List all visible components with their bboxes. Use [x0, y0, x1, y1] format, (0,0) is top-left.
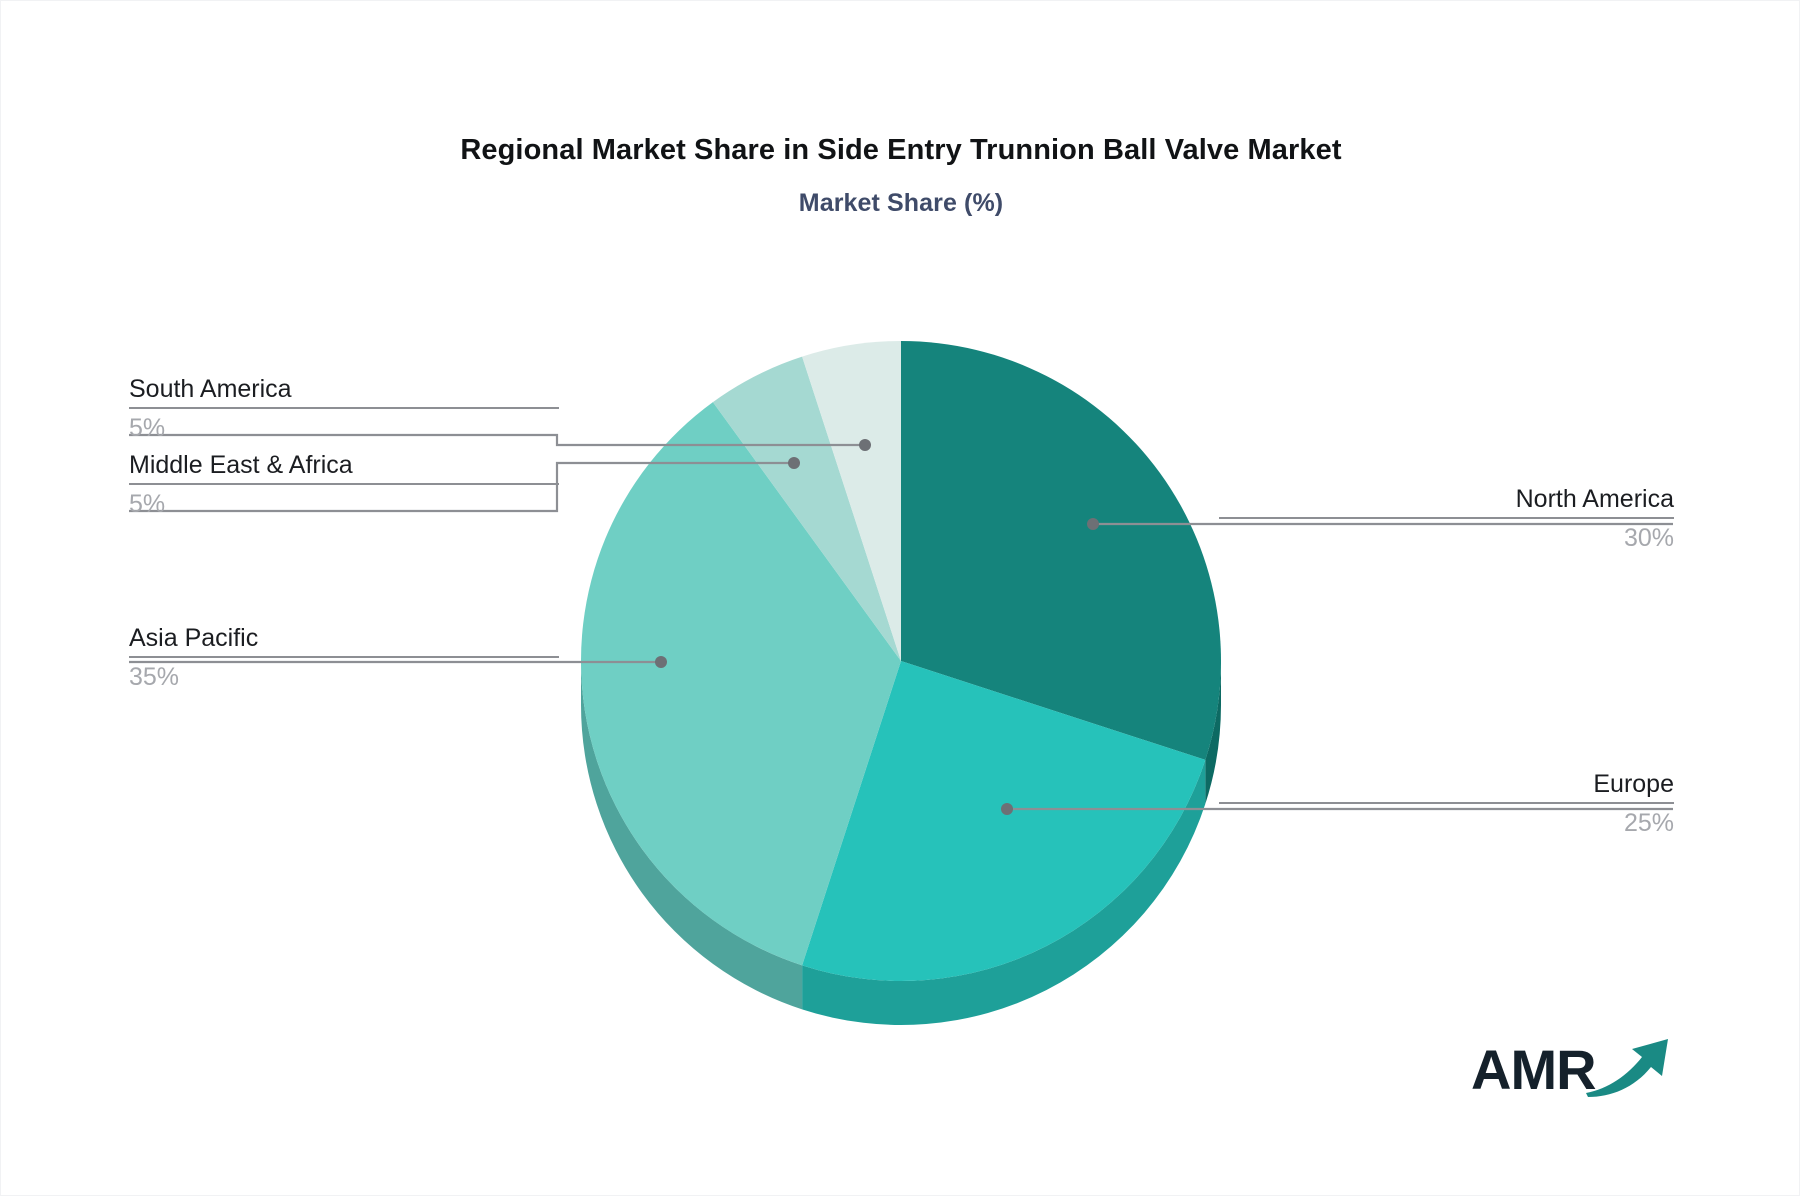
pie-slice-asia-pacific[interactable] — [581, 402, 901, 965]
amr-logo: AMR — [1471, 1031, 1674, 1098]
chart-canvas: Regional Market Share in Side Entry Trun… — [0, 0, 1800, 1196]
pie-side-europe — [802, 760, 1205, 1025]
callout-value-north-america: 30% — [1219, 519, 1674, 553]
leader-dot-middle-east — [788, 457, 800, 469]
leader-dot-north-america — [1087, 518, 1099, 530]
chart-title: Regional Market Share in Side Entry Trun… — [1, 134, 1800, 167]
callout-label-north-america: North America — [1219, 484, 1674, 517]
callout-value-asia-pacific: 35% — [129, 658, 559, 692]
pie-slice-europe[interactable] — [802, 661, 1205, 981]
callout-europe[interactable]: Europe 25% — [1219, 769, 1674, 838]
amr-logo-text: AMR — [1471, 1042, 1596, 1098]
callout-value-south-america: 5% — [129, 409, 559, 443]
pie-slice-north-america[interactable] — [901, 341, 1221, 760]
leader-dot-asia-pacific — [655, 656, 667, 668]
chart-subtitle: Market Share (%) — [1, 189, 1800, 218]
callout-label-middle-east-africa: Middle East & Africa — [129, 450, 559, 483]
pie-top-face — [581, 341, 1221, 981]
pie-side-asia-pacific — [581, 661, 802, 1009]
callout-asia-pacific[interactable]: Asia Pacific 35% — [129, 623, 559, 692]
callout-label-asia-pacific: Asia Pacific — [129, 623, 559, 656]
up-trend-arrow-icon — [1582, 1031, 1674, 1102]
callout-middle-east-africa[interactable]: Middle East & Africa 5% — [129, 450, 559, 519]
leader-dot-south-america — [859, 439, 871, 451]
pie-3d-side-walls — [581, 661, 1221, 1025]
leader-dot-europe — [1001, 803, 1013, 815]
callout-north-america[interactable]: North America 30% — [1219, 484, 1674, 553]
pie-chart-graphic — [1, 1, 1800, 1197]
callout-label-europe: Europe — [1219, 769, 1674, 802]
pie-slice-middle-east-africa[interactable] — [713, 357, 901, 661]
callout-label-south-america: South America — [129, 374, 559, 407]
callout-value-europe: 25% — [1219, 804, 1674, 838]
callout-value-middle-east-africa: 5% — [129, 485, 559, 519]
callout-south-america[interactable]: South America 5% — [129, 374, 559, 443]
pie-slice-south-america[interactable] — [802, 341, 901, 661]
